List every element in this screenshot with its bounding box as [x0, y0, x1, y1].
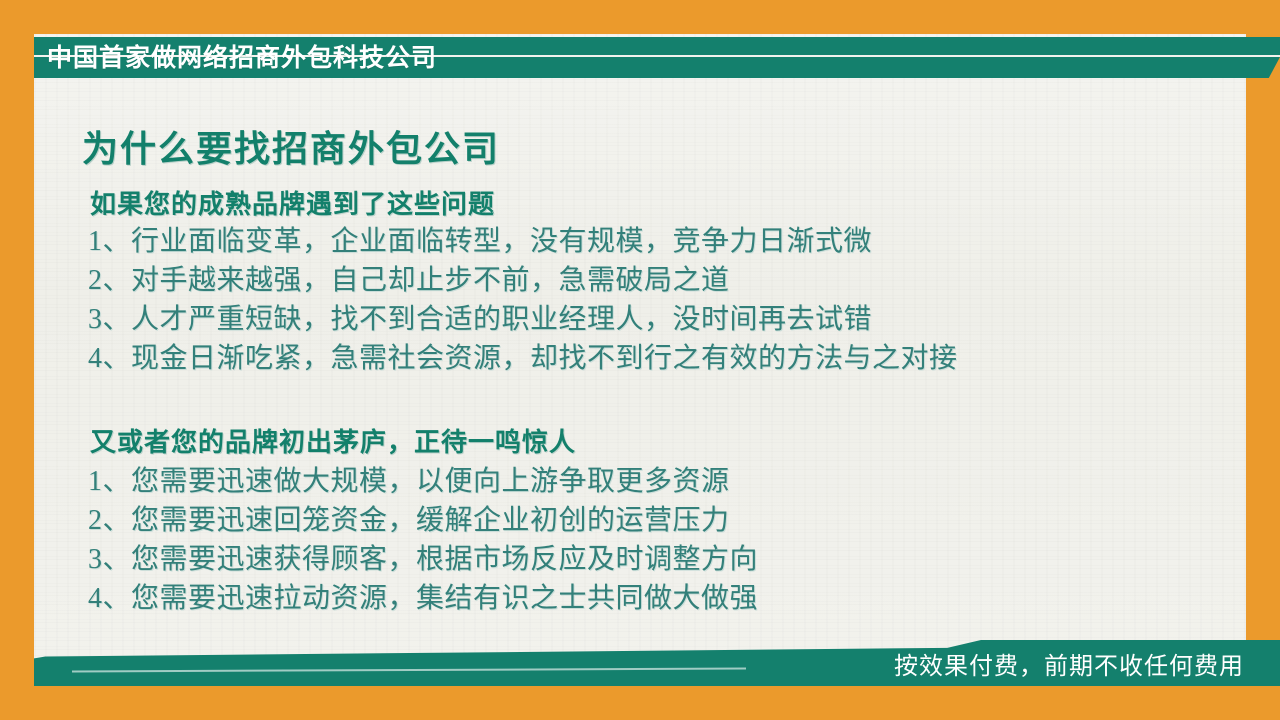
section-heading-new-brand: 又或者您的品牌初出茅庐，正待一鸣惊人 [90, 422, 576, 459]
list-item: 1、您需要迅速做大规模，以便向上游争取更多资源 [88, 462, 758, 501]
list-item: 4、您需要迅速拉动资源，集结有识之士共同做大做强 [88, 579, 758, 618]
list-item: 3、人才严重短缺，找不到合适的职业经理人，没时间再去试错 [88, 300, 958, 339]
list-item: 2、您需要迅速回笼资金，缓解企业初创的运营压力 [88, 501, 758, 540]
need-list-new-brand: 1、您需要迅速做大规模，以便向上游争取更多资源 2、您需要迅速回笼资金，缓解企业… [88, 462, 758, 618]
section-heading-mature-brand: 如果您的成熟品牌遇到了这些问题 [90, 184, 495, 221]
main-content: 为什么要找招商外包公司 如果您的成熟品牌遇到了这些问题 1、行业面临变革，企业面… [34, 92, 1246, 652]
page-title: 为什么要找招商外包公司 [82, 120, 500, 172]
problem-list-mature-brand: 1、行业面临变革，企业面临转型，没有规模，竞争力日渐式微 2、对手越来越强，自己… [88, 222, 958, 378]
footer-tagline: 按效果付费，前期不收任何费用 [894, 651, 1244, 683]
slide-root: 中国首家做网络招商外包科技公司 为什么要找招商外包公司 如果您的成熟品牌遇到了这… [0, 0, 1280, 720]
list-item: 2、对手越来越强，自己却止步不前，急需破局之道 [88, 261, 958, 300]
list-item: 3、您需要迅速获得顾客，根据市场反应及时调整方向 [88, 540, 758, 579]
list-item: 4、现金日渐吃紧，急需社会资源，却找不到行之有效的方法与之对接 [88, 339, 958, 378]
list-item: 1、行业面临变革，企业面临转型，没有规模，竞争力日渐式微 [88, 222, 958, 261]
header-title: 中国首家做网络招商外包科技公司 [47, 41, 437, 75]
